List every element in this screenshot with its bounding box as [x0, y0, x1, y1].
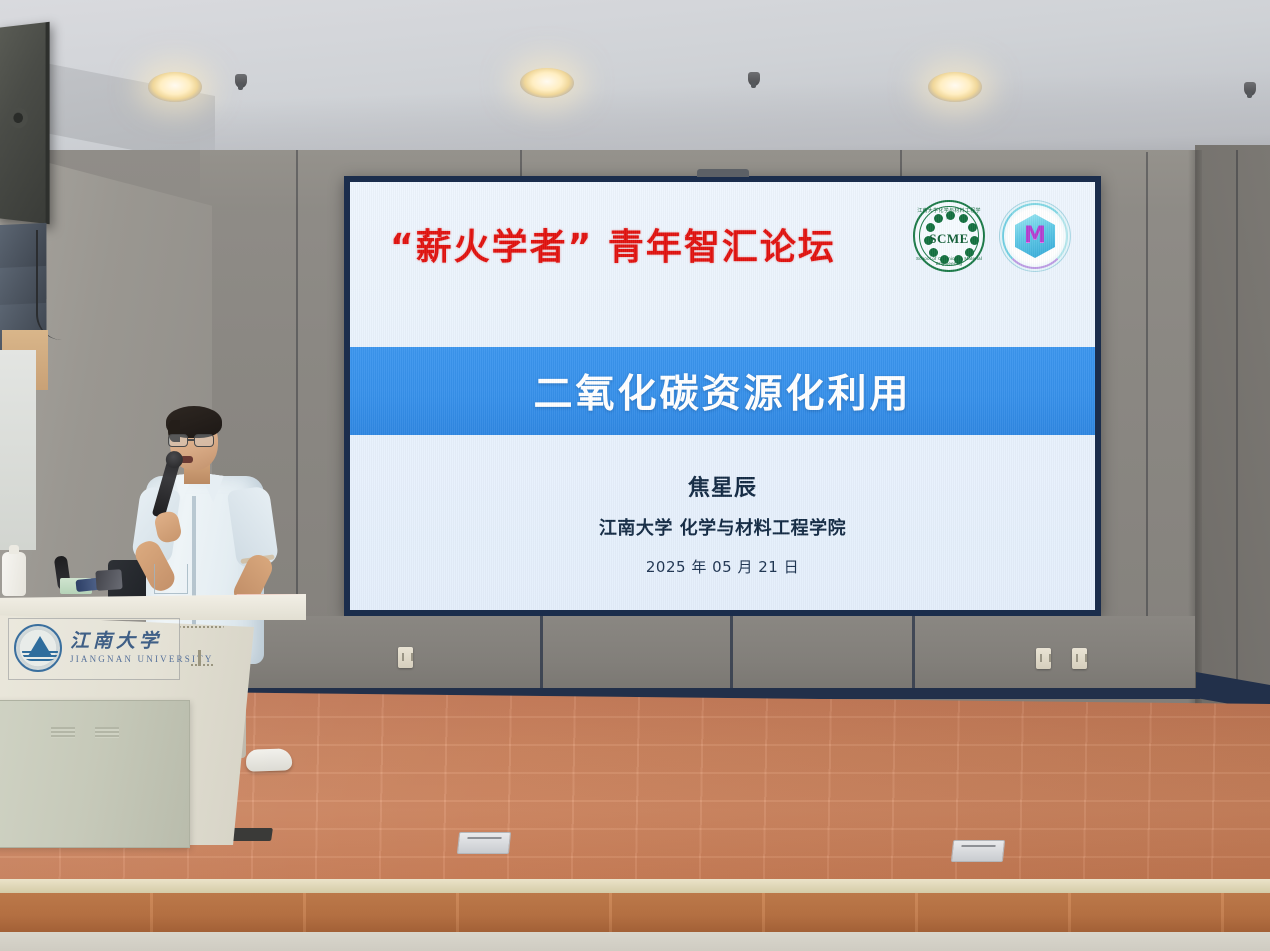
hanging-cable: [36, 230, 62, 340]
floor-below-stage: [0, 932, 1270, 951]
equipment-cabinet[interactable]: [0, 700, 190, 848]
jiangnan-university-logo: [14, 624, 62, 672]
lower-panel-seam-2: [730, 616, 733, 692]
downlight-icon-3: [928, 72, 982, 102]
wall-outlet-left[interactable]: [398, 647, 413, 668]
podium-emblem-stem: [198, 650, 201, 666]
scme-logo: 江南大学化学与材料工程学院 SCME School of Chemical & …: [913, 200, 985, 272]
slide-logo-row: 江南大学化学与材料工程学院 SCME School of Chemical & …: [913, 200, 1071, 272]
vesa-mount-icon: [9, 107, 28, 128]
presentation-slide: “薪火学者” 青年智汇论坛: [350, 182, 1095, 610]
sprinkler-icon-2: [748, 72, 760, 86]
speaker-name: 焦星辰: [350, 470, 1095, 502]
hexagon-m-logo: M: [999, 200, 1071, 272]
wall-outlet-right-2[interactable]: [1072, 648, 1087, 669]
lower-panel-seam-3: [912, 616, 915, 692]
forum-title: “薪火学者” 青年智汇论坛: [390, 218, 860, 270]
speaker-info-block: 焦星辰 江南大学 化学与材料工程学院 2025 年 05 月 21 日: [350, 470, 1095, 577]
wall-seam-4: [1146, 152, 1148, 692]
downlight-icon-2: [520, 68, 574, 98]
main-title: 二氧化碳资源化利用: [533, 363, 911, 419]
wall-seam-5: [1236, 150, 1238, 710]
scme-acronym: SCME: [915, 231, 983, 247]
stage-riser: [0, 893, 1270, 935]
cabinet-vent-2: [95, 727, 119, 738]
wall-monitor-back: [0, 22, 50, 224]
cabinet-vent-1: [51, 727, 75, 738]
scme-arc-top: 江南大学化学与材料工程学院: [915, 207, 983, 221]
glasses-icon: [168, 434, 220, 448]
podium-item-dark: [95, 569, 122, 591]
left-wall-white-panel: [0, 350, 36, 550]
stage-edge-trim: [0, 879, 1270, 894]
led-display-screen[interactable]: “薪火学者” 青年智汇论坛: [344, 176, 1101, 616]
wall-outlet-right-1[interactable]: [1036, 648, 1051, 669]
floor-plate-left[interactable]: [457, 832, 511, 854]
downlight-icon-1: [148, 72, 202, 102]
presentation-date: 2025 年 05 月 21 日: [350, 556, 1095, 577]
lecture-hall-scene: “薪火学者” 青年智汇论坛: [0, 0, 1270, 951]
floor-plate-right[interactable]: [951, 840, 1005, 862]
podium-top-surface: [0, 594, 306, 620]
screen-top-bracket: [697, 169, 749, 177]
sprinkler-icon-1: [235, 74, 247, 88]
speaker-affiliation: 江南大学 化学与材料工程学院: [350, 514, 1095, 540]
sprinkler-icon-3: [1244, 82, 1256, 96]
presenter-shoe: [246, 748, 293, 772]
slide-title-band: 二氧化碳资源化利用: [350, 347, 1095, 435]
presenter-shirt-pocket: [154, 564, 188, 594]
podium-university-name-cn: 江南大学: [70, 626, 162, 653]
scme-arc-bottom: School of Chemical & Material Engineerin…: [915, 256, 983, 266]
water-bottle: [2, 552, 26, 596]
hexagon-logo-letter: M: [1024, 225, 1046, 247]
jnu-logo-wave-icon: [22, 651, 58, 661]
lower-panel-seam-1: [540, 616, 543, 692]
